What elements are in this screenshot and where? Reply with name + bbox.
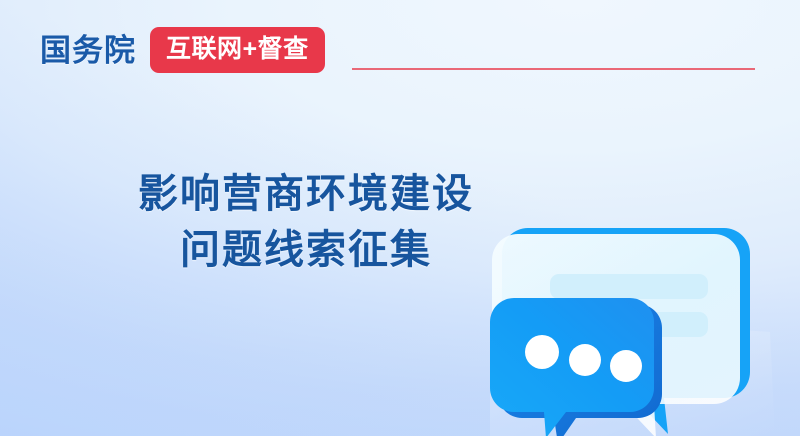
page-title: 影响营商环境建设 问题线索征集: [96, 166, 516, 278]
banner: 国务院 互联网+督查 影响营商环境建设 问题线索征集: [0, 0, 800, 436]
page-title-line-1: 影响营商环境建设: [96, 166, 516, 222]
header-divider-rule: [352, 68, 755, 70]
internet-plus-supervision-badge: 互联网+督查: [150, 27, 325, 73]
typing-dot: [610, 350, 642, 382]
chat-bubbles-illustration: [470, 200, 800, 436]
typing-dot: [525, 335, 559, 369]
page-title-line-2: 问题线索征集: [96, 222, 516, 278]
gov-logo-text: 国务院: [40, 35, 136, 66]
header: 国务院 互联网+督查: [40, 26, 800, 74]
typing-dot: [569, 344, 601, 376]
